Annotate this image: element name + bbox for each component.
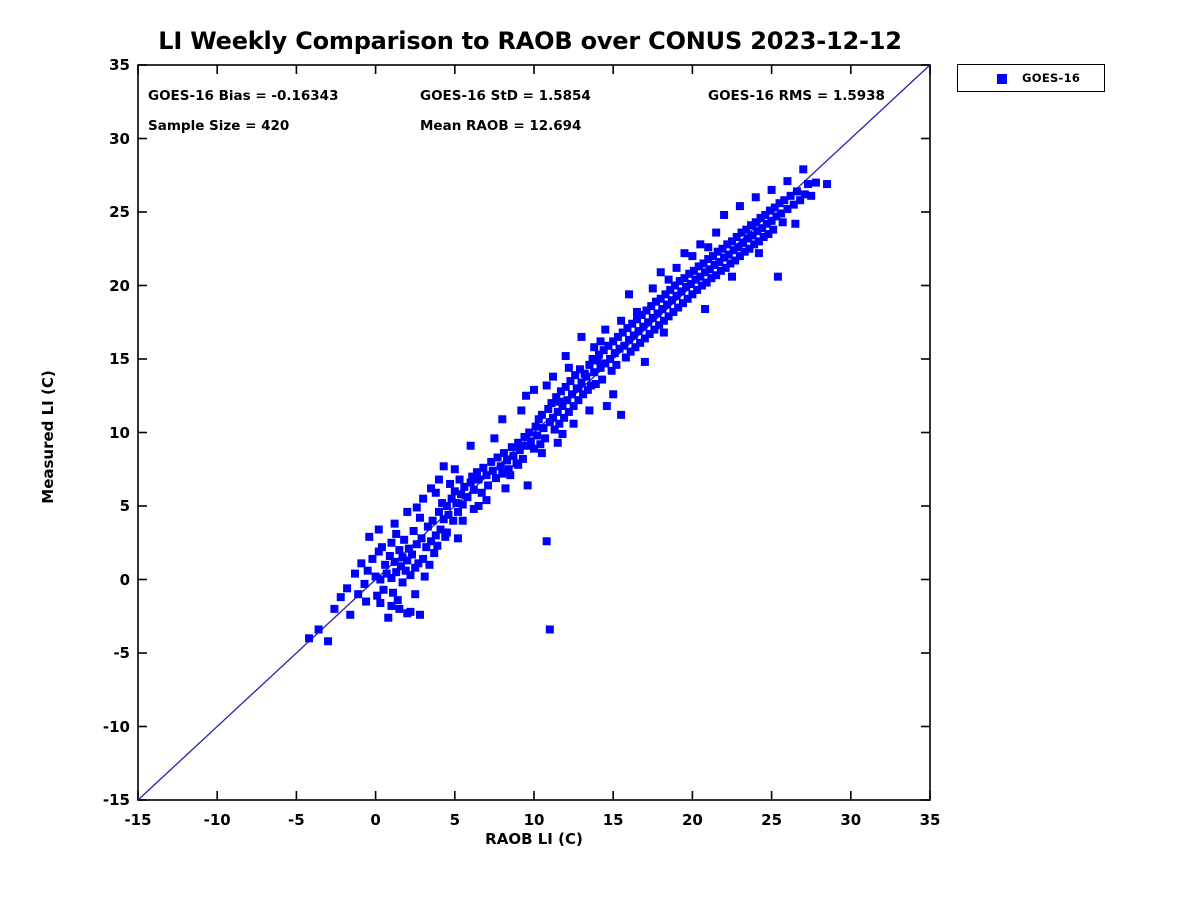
y-tick-label: -15 <box>76 791 130 809</box>
y-tick-label: 20 <box>76 277 130 295</box>
y-tick-label: 10 <box>76 424 130 442</box>
y-tick-label: 0 <box>76 571 130 589</box>
x-tick-label: 35 <box>920 811 941 829</box>
y-tick-label: -10 <box>76 718 130 736</box>
y-tick-label: 5 <box>76 497 130 515</box>
scatter-plot <box>0 0 1200 900</box>
x-tick-label: 20 <box>682 811 703 829</box>
y-axis-label: Measured LI (C) <box>39 357 57 517</box>
chart-page: LI Weekly Comparison to RAOB over CONUS … <box>0 0 1200 900</box>
y-tick-label: 35 <box>76 56 130 74</box>
x-tick-label: 30 <box>840 811 861 829</box>
x-tick-label: -5 <box>288 811 305 829</box>
y-tick-label: -5 <box>76 644 130 662</box>
x-tick-label: 0 <box>370 811 380 829</box>
y-tick-label: 15 <box>76 350 130 368</box>
y-tick-label: 30 <box>76 130 130 148</box>
legend: GOES-16 <box>957 64 1105 92</box>
x-tick-label: -15 <box>124 811 151 829</box>
legend-swatch-goes16 <box>997 74 1007 84</box>
legend-label-goes16: GOES-16 <box>1022 71 1080 85</box>
y-tick-label: 25 <box>76 203 130 221</box>
data-points <box>305 165 831 645</box>
x-tick-label: 5 <box>450 811 460 829</box>
x-axis-label: RAOB LI (C) <box>0 830 1068 848</box>
x-tick-label: -10 <box>204 811 231 829</box>
x-tick-label: 10 <box>524 811 545 829</box>
x-tick-label: 25 <box>761 811 782 829</box>
x-tick-label: 15 <box>603 811 624 829</box>
